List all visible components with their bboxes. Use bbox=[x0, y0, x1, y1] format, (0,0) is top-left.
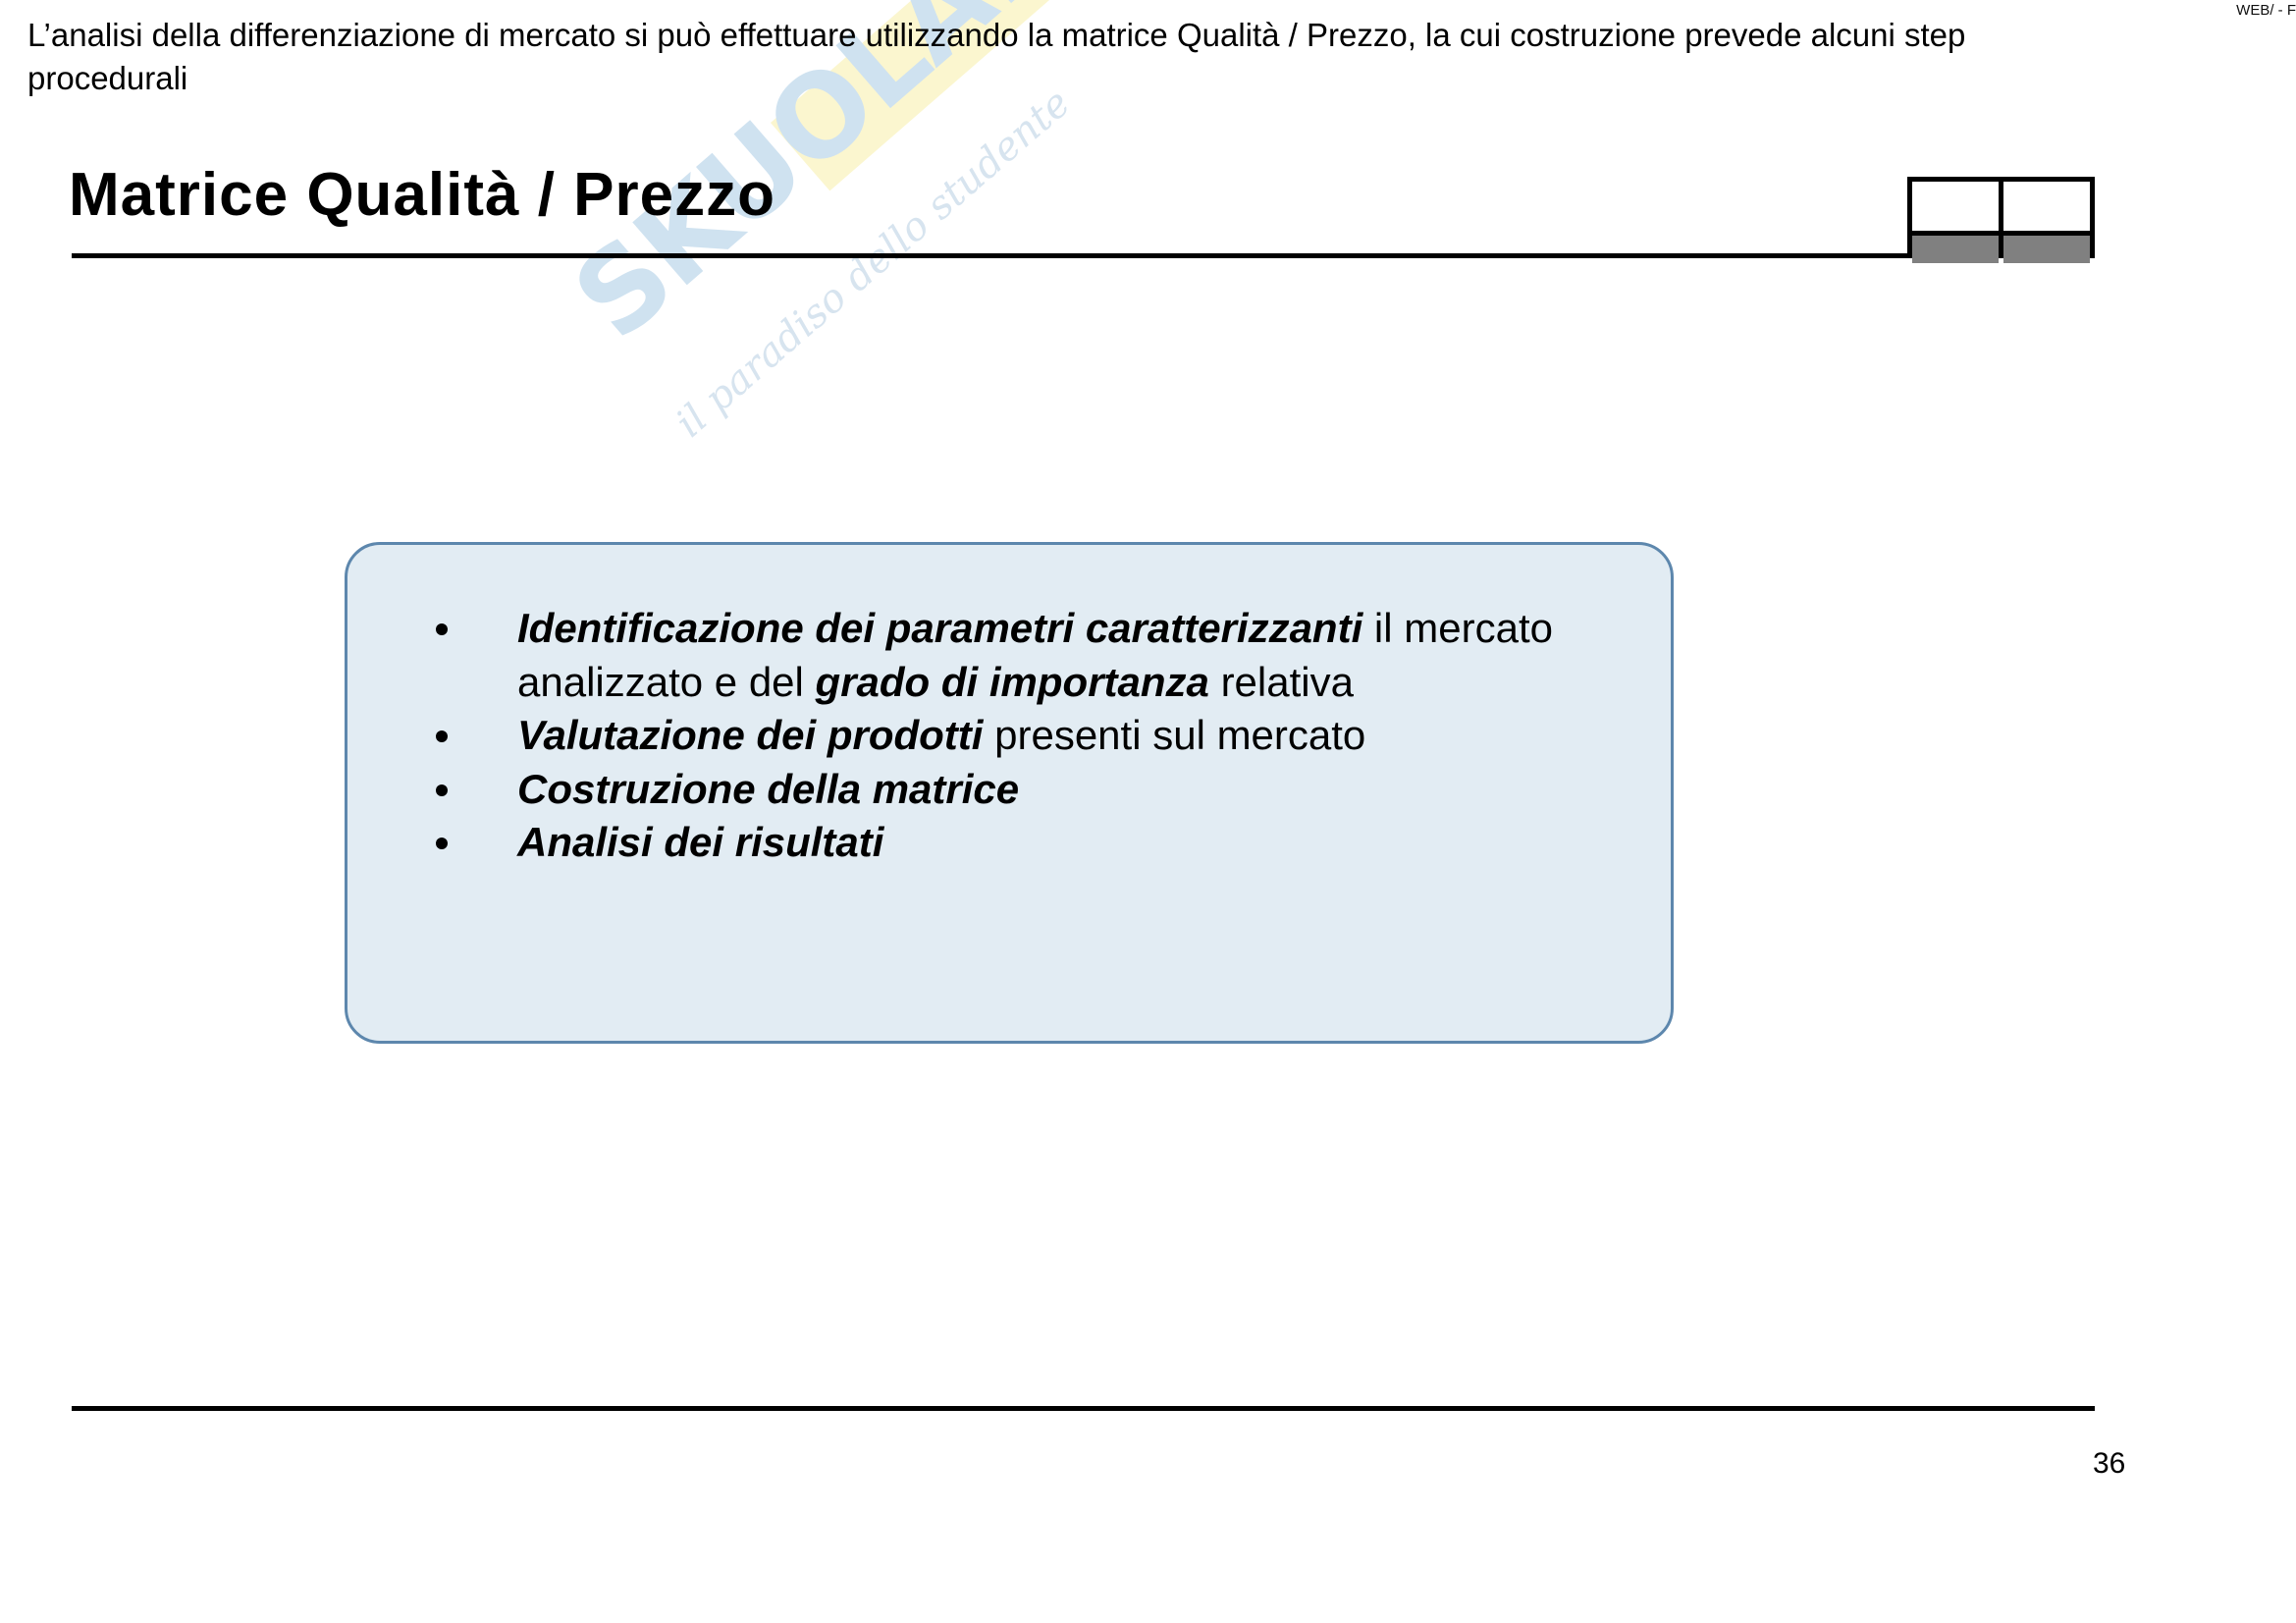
bullet-item: Identificazione dei parametri caratteriz… bbox=[424, 602, 1582, 709]
bullet-emphasis-text: grado di importanza bbox=[816, 659, 1209, 705]
bullet-emphasis-text: Analisi dei risultati bbox=[517, 819, 883, 865]
bullet-dot-icon bbox=[436, 730, 448, 742]
bullet-dot-icon bbox=[436, 784, 448, 796]
bullet-item: Analisi dei risultati bbox=[424, 816, 1582, 870]
slide-canvas: SKUOLA.net il paradiso dello studente WE… bbox=[0, 0, 2296, 1623]
bullet-plain-text: presenti sul mercato bbox=[983, 712, 1365, 758]
steps-bullet-list: Identificazione dei parametri caratteriz… bbox=[424, 602, 1582, 870]
steps-callout-box: Identificazione dei parametri caratteriz… bbox=[345, 542, 1674, 1044]
bullet-plain-text: relativa bbox=[1209, 659, 1354, 705]
bullet-emphasis-text: Valutazione dei prodotti bbox=[517, 712, 983, 758]
logo-cell-top-right bbox=[2003, 182, 2090, 231]
bullet-dot-icon bbox=[436, 623, 448, 635]
page-title: Matrice Qualità / Prezzo bbox=[69, 160, 775, 230]
grid-logo-icon bbox=[1907, 177, 2095, 253]
page-number: 36 bbox=[2093, 1447, 2125, 1481]
intro-paragraph: L’analisi della differenziazione di merc… bbox=[27, 14, 2069, 100]
corner-code-label: WEB/ - F bbox=[2236, 2, 2296, 19]
watermark-tagline: il paradiso dello studente bbox=[667, 81, 1079, 447]
title-divider bbox=[72, 253, 2095, 258]
bullet-emphasis-text: Costruzione della matrice bbox=[517, 766, 1019, 812]
footer-divider bbox=[72, 1406, 2095, 1411]
logo-cell-bottom-left bbox=[1912, 236, 1999, 263]
bullet-dot-icon bbox=[436, 838, 448, 849]
bullet-item: Costruzione della matrice bbox=[424, 763, 1582, 817]
bullet-emphasis-text: Identificazione dei parametri caratteriz… bbox=[517, 605, 1362, 651]
bullet-item: Valutazione dei prodotti presenti sul me… bbox=[424, 709, 1582, 763]
logo-cell-bottom-right bbox=[2003, 236, 2090, 263]
logo-cell-top-left bbox=[1912, 182, 1999, 231]
